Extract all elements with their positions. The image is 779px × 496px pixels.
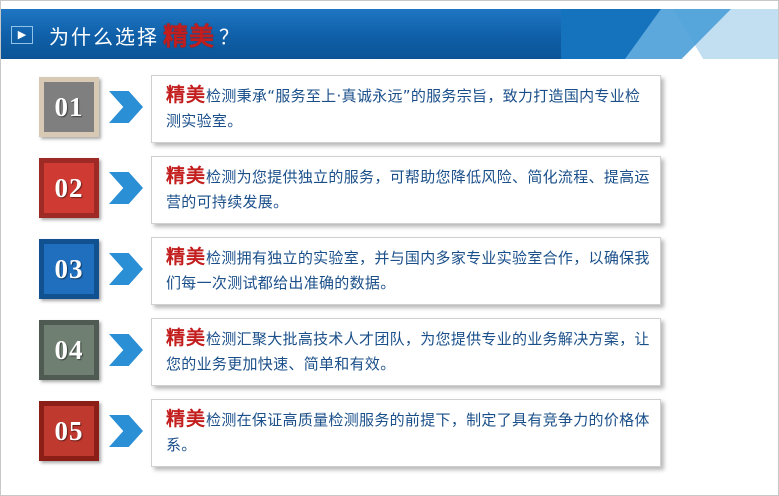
list-item: 02 精美检测为您提供独立的服务，可帮助您降低风险、简化流程、提高运营的可持续发… — [1, 154, 779, 230]
panel-brand: 精美 — [166, 165, 206, 187]
panel-text: 精美检测拥有独立的实验室，并与国内多家专业实验室合作，以确保我们每一次测试都给出… — [166, 245, 650, 296]
panel-brand: 精美 — [166, 408, 206, 430]
list-item: 03 精美检测拥有独立的实验室，并与国内多家专业实验室合作，以确保我们每一次测试… — [1, 235, 779, 311]
panel-text: 精美检测为您提供独立的服务，可帮助您降低风险、简化流程、提高运营的可持续发展。 — [166, 164, 650, 215]
panel-brand: 精美 — [166, 327, 206, 349]
chevron-right-icon — [109, 253, 143, 285]
text-panel: 精美检测汇聚大批高技术人才团队，为您提供专业的业务解决方案，让您的业务更加快速、… — [151, 318, 661, 386]
number-badge: 05 — [39, 401, 99, 461]
number-badge: 01 — [39, 77, 99, 137]
number-badge-label: 05 — [55, 416, 84, 447]
chevron-right-icon — [109, 172, 143, 204]
number-badge-label: 01 — [55, 92, 84, 123]
page-title: 为什么选择精美？ — [49, 19, 241, 51]
list-item: 01 精美检测秉承“服务至上·真诚永远”的服务宗旨，致力打造国内专业检测实验室。 — [1, 73, 779, 149]
text-panel: 精美检测拥有独立的实验室，并与国内多家专业实验室合作，以确保我们每一次测试都给出… — [151, 237, 661, 305]
title-brand: 精美 — [163, 17, 215, 53]
title-prefix: 为什么选择 — [49, 21, 159, 50]
title-suffix: ？ — [219, 21, 241, 50]
slide-page: ▶ 为什么选择精美？ 01 精美检测秉承“服务至上·真诚永远”的服务宗旨，致力打… — [0, 0, 779, 496]
list-item: 05 精美检测在保证高质量检测服务的前提下，制定了具有竞争力的价格体系。 — [1, 397, 779, 473]
chevron-right-icon — [109, 334, 143, 366]
number-badge: 03 — [39, 239, 99, 299]
panel-body: 检测秉承“服务至上·真诚永远”的服务宗旨，致力打造国内专业检测实验室。 — [166, 87, 640, 130]
panel-text: 精美检测汇聚大批高技术人才团队，为您提供专业的业务解决方案，让您的业务更加快速、… — [166, 326, 650, 377]
number-badge: 02 — [39, 158, 99, 218]
header-banner: ▶ 为什么选择精美？ — [1, 1, 779, 67]
chevron-right-icon — [109, 91, 143, 123]
panel-body: 检测汇聚大批高技术人才团队，为您提供专业的业务解决方案，让您的业务更加快速、简单… — [166, 330, 650, 373]
panel-brand: 精美 — [166, 84, 206, 106]
panel-body: 检测拥有独立的实验室，并与国内多家专业实验室合作，以确保我们每一次测试都给出准确… — [166, 249, 650, 292]
number-badge-label: 04 — [55, 335, 84, 366]
text-panel: 精美检测在保证高质量检测服务的前提下，制定了具有竞争力的价格体系。 — [151, 399, 661, 467]
panel-text: 精美检测秉承“服务至上·真诚永远”的服务宗旨，致力打造国内专业检测实验室。 — [166, 83, 650, 134]
list-item: 04 精美检测汇聚大批高技术人才团队，为您提供专业的业务解决方案，让您的业务更加… — [1, 316, 779, 392]
chevron-right-icon — [109, 415, 143, 447]
text-panel: 精美检测秉承“服务至上·真诚永远”的服务宗旨，致力打造国内专业检测实验室。 — [151, 75, 661, 143]
number-badge: 04 — [39, 320, 99, 380]
panel-brand: 精美 — [166, 246, 206, 268]
play-triangle-icon: ▶ — [11, 26, 33, 44]
panel-text: 精美检测在保证高质量检测服务的前提下，制定了具有竞争力的价格体系。 — [166, 407, 650, 458]
number-badge-label: 03 — [55, 254, 84, 285]
reason-list: 01 精美检测秉承“服务至上·真诚永远”的服务宗旨，致力打造国内专业检测实验室。… — [1, 73, 779, 478]
header-bottom-strip — [1, 59, 779, 67]
panel-body: 检测在保证高质量检测服务的前提下，制定了具有竞争力的价格体系。 — [166, 411, 650, 454]
number-badge-label: 02 — [55, 173, 84, 204]
panel-body: 检测为您提供独立的服务，可帮助您降低风险、简化流程、提高运营的可持续发展。 — [166, 168, 650, 211]
text-panel: 精美检测为您提供独立的服务，可帮助您降低风险、简化流程、提高运营的可持续发展。 — [151, 156, 661, 224]
